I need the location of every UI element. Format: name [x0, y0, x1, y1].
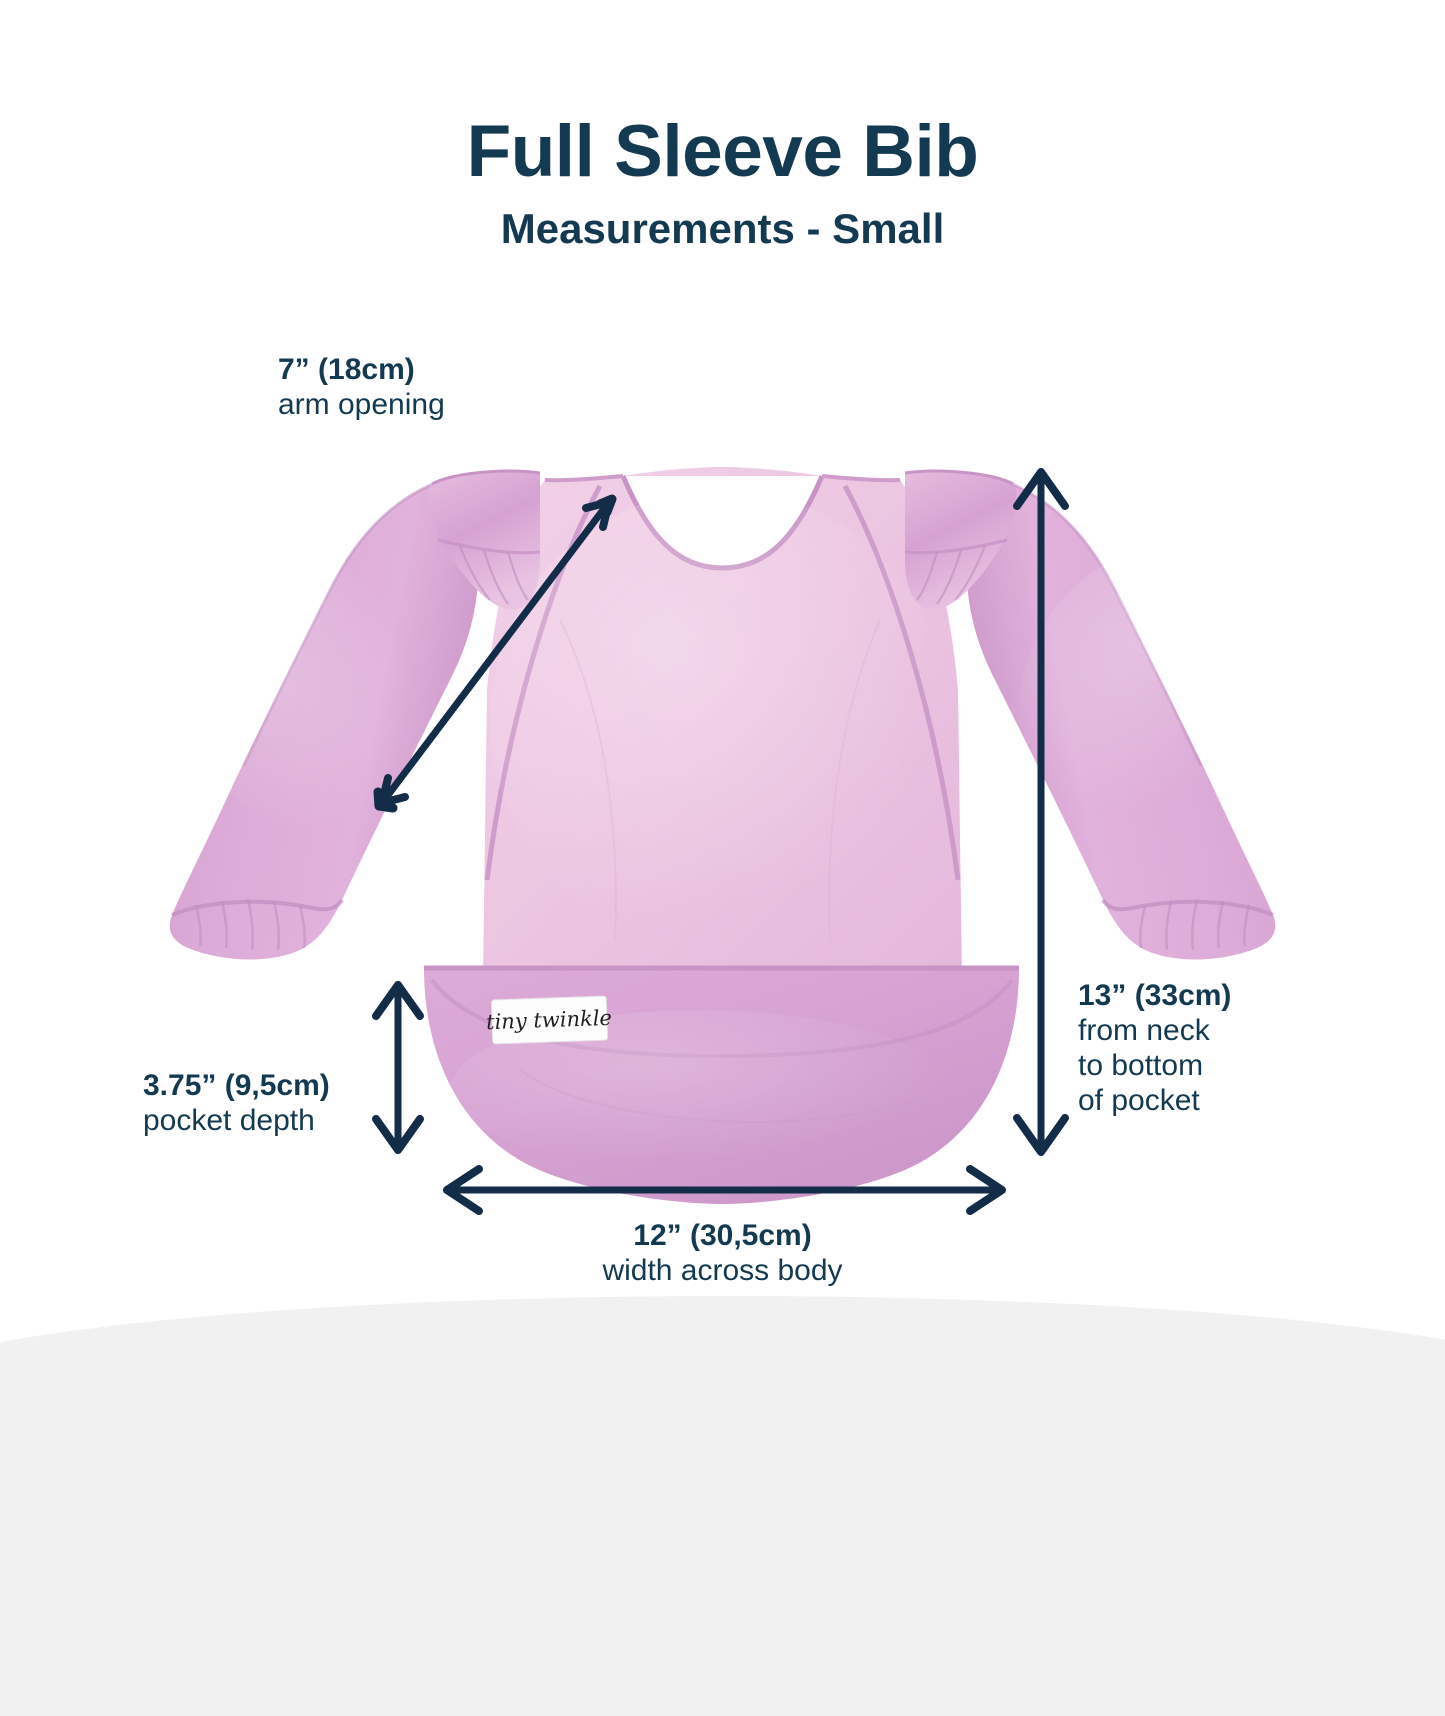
arrow-pocket-depth	[376, 985, 420, 1150]
dimension-arrows	[0, 0, 1445, 1445]
arrow-arm-opening	[378, 499, 612, 808]
measurement-diagram-page: Full Sleeve Bib Measurements - Small	[0, 0, 1445, 1445]
arrow-width-across-body	[447, 1169, 1002, 1211]
arrow-neck-to-pocket	[1017, 472, 1065, 1152]
